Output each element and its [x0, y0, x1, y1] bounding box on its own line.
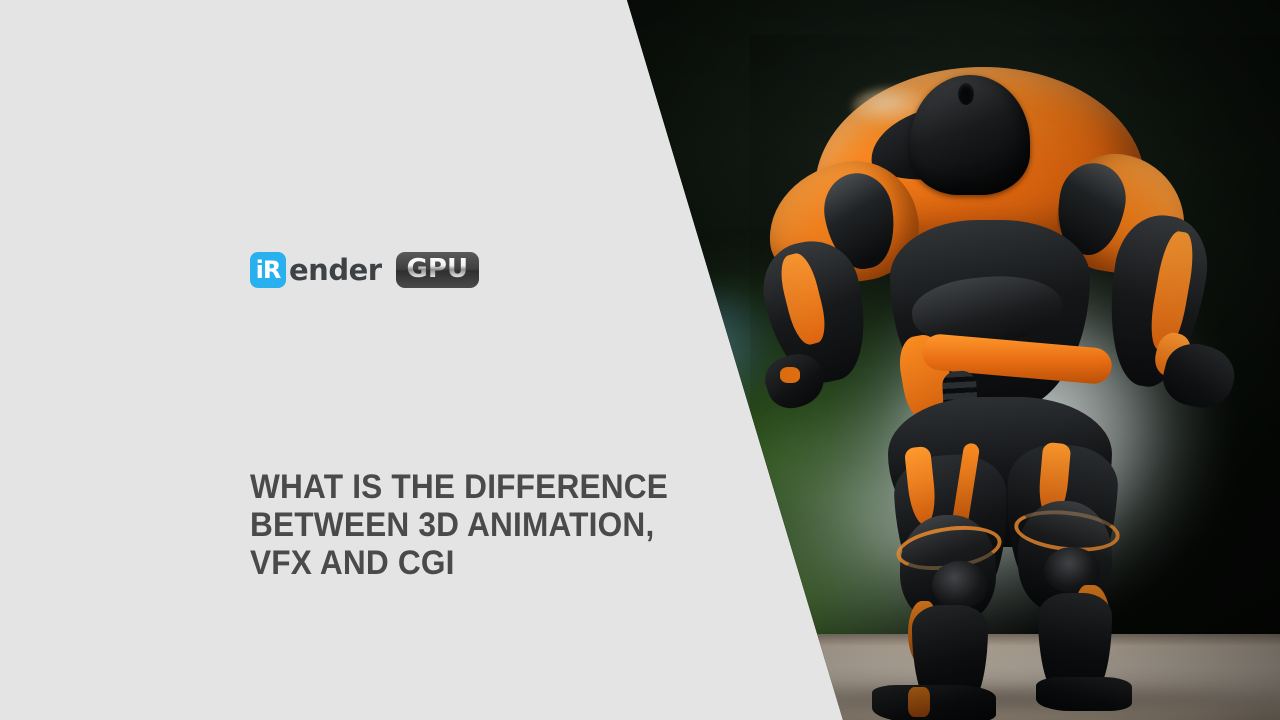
brand-logo[interactable]: iR ender GPU — [250, 250, 479, 290]
irender-mark-icon: iR — [250, 252, 286, 288]
gpu-badge-label: GPU — [407, 254, 469, 284]
page-title: WHAT IS THE DIFFERENCE BETWEEN 3D ANIMAT… — [250, 468, 659, 582]
page-title-line-3: VFX AND CGI — [250, 544, 659, 582]
left-content-panel: iR ender GPU WHAT IS THE DIFFERENCE BETW… — [0, 0, 700, 720]
gpu-badge: GPU — [396, 252, 480, 288]
brand-wordmark: ender — [289, 253, 382, 287]
page-title-line-1: WHAT IS THE DIFFERENCE — [250, 468, 659, 506]
page-title-line-2: BETWEEN 3D ANIMATION, — [250, 506, 659, 544]
slide-canvas: iR ender GPU WHAT IS THE DIFFERENCE BETW… — [0, 0, 1280, 720]
